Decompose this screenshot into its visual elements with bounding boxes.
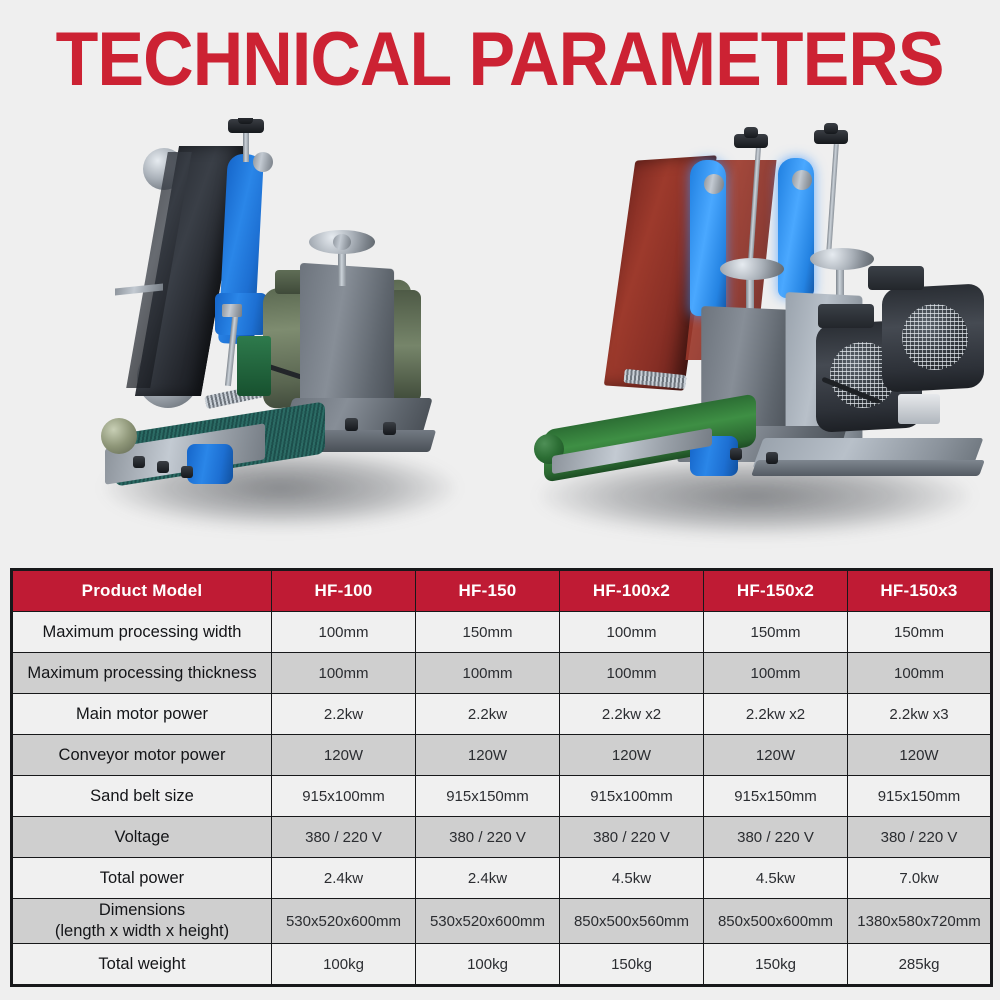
cell: 150mm <box>848 612 992 653</box>
page-header: TECHNICAL PARAMETERS <box>0 0 1000 120</box>
row-label: Sand belt size <box>12 776 272 817</box>
cell: 2.2kw x3 <box>848 694 992 735</box>
table-row: Dimensions (length x width x height) 530… <box>12 899 992 944</box>
knob-cap-2 <box>824 123 838 134</box>
bed-plate-edge <box>751 460 985 476</box>
row-label-line1: Dimensions <box>14 900 270 921</box>
table-row: Main motor power 2.2kw 2.2kw 2.2kw x2 2.… <box>12 694 992 735</box>
cell: 530x520x600mm <box>416 899 560 944</box>
row-label: Total power <box>12 858 272 899</box>
conveyor-bolt-3 <box>181 466 193 478</box>
cell: 2.2kw x2 <box>560 694 704 735</box>
column-header-product-model: Product Model <box>12 570 272 612</box>
cell: 100mm <box>560 653 704 694</box>
table-row: Maximum processing thickness 100mm 100mm… <box>12 653 992 694</box>
cell: 850x500x560mm <box>560 899 704 944</box>
cell: 4.5kw <box>704 858 848 899</box>
cell: 120W <box>704 735 848 776</box>
cell: 100kg <box>416 944 560 986</box>
row-label: Voltage <box>12 817 272 858</box>
cell: 530x520x600mm <box>272 899 416 944</box>
column-header-model-1: HF-100 <box>272 570 416 612</box>
tension-rod-2 <box>826 144 839 254</box>
base-bolt-3 <box>383 422 396 435</box>
cell: 100mm <box>848 653 992 694</box>
cell: 915x150mm <box>704 776 848 817</box>
product-photo-stage <box>0 118 1000 560</box>
cell: 850x500x600mm <box>704 899 848 944</box>
table-row: Sand belt size 915x100mm 915x150mm 915x1… <box>12 776 992 817</box>
column-header-model-5: HF-150x3 <box>848 570 992 612</box>
cell: 100mm <box>416 653 560 694</box>
machine-base-column <box>300 263 394 420</box>
technical-parameters-table: Product Model HF-100 HF-150 HF-100x2 HF-… <box>10 568 993 987</box>
conveyor-roller-right <box>187 444 233 484</box>
column-header-model-3: HF-100x2 <box>560 570 704 612</box>
cell: 120W <box>272 735 416 776</box>
cell: 120W <box>416 735 560 776</box>
motor-terminal-box-2 <box>868 266 924 290</box>
cell: 150mm <box>416 612 560 653</box>
cell: 2.2kw <box>272 694 416 735</box>
table-row: Voltage 380 / 220 V 380 / 220 V 380 / 22… <box>12 817 992 858</box>
row-label: Total weight <box>12 944 272 986</box>
table-header-row: Product Model HF-100 HF-150 HF-100x2 HF-… <box>12 570 992 612</box>
product-image-left <box>95 118 455 548</box>
cell: 915x150mm <box>416 776 560 817</box>
cell: 915x100mm <box>272 776 416 817</box>
conveyor-bolt-2 <box>766 452 778 464</box>
cell: 100mm <box>560 612 704 653</box>
control-switch-box <box>898 394 940 424</box>
handwheel-1 <box>720 258 784 280</box>
cell: 915x100mm <box>560 776 704 817</box>
table-row: Total weight 100kg 100kg 150kg 150kg 285… <box>12 944 992 986</box>
cell: 380 / 220 V <box>416 817 560 858</box>
cell: 915x150mm <box>848 776 992 817</box>
cell: 120W <box>848 735 992 776</box>
product-image-right <box>530 126 980 556</box>
cell: 1380x580x720mm <box>848 899 992 944</box>
page-title: TECHNICAL PARAMETERS <box>56 22 944 98</box>
row-label: Main motor power <box>12 694 272 735</box>
cell: 380 / 220 V <box>560 817 704 858</box>
handwheel-hub <box>333 234 351 250</box>
base-bolt-2 <box>345 418 358 431</box>
cell: 285kg <box>848 944 992 986</box>
row-label-line2: (length x width x height) <box>14 921 270 942</box>
cell: 7.0kw <box>848 858 992 899</box>
pivot-boss-2 <box>792 170 812 190</box>
cell: 2.2kw <box>416 694 560 735</box>
cell: 100mm <box>272 612 416 653</box>
conveyor-bolt-1 <box>133 456 145 468</box>
cell: 380 / 220 V <box>272 817 416 858</box>
knob-cap <box>238 118 253 124</box>
cell: 380 / 220 V <box>704 817 848 858</box>
conveyor-bolt-2 <box>157 461 169 473</box>
table-row: Maximum processing width 100mm 150mm 100… <box>12 612 992 653</box>
cell: 150mm <box>704 612 848 653</box>
motor-terminal-box-1 <box>818 304 874 328</box>
column-header-model-4: HF-150x2 <box>704 570 848 612</box>
table-row: Conveyor motor power 120W 120W 120W 120W… <box>12 735 992 776</box>
cell: 100mm <box>272 653 416 694</box>
pivot-boss-1 <box>704 174 724 194</box>
cell: 100mm <box>704 653 848 694</box>
cell: 100kg <box>272 944 416 986</box>
row-label: Conveyor motor power <box>12 735 272 776</box>
cell: 150kg <box>704 944 848 986</box>
conveyor-bolt-1 <box>730 448 742 460</box>
table-row: Total power 2.4kw 2.4kw 4.5kw 4.5kw 7.0k… <box>12 858 992 899</box>
cell: 2.4kw <box>272 858 416 899</box>
pivot-boss <box>253 152 273 172</box>
row-label: Maximum processing thickness <box>12 653 272 694</box>
sensor-block <box>237 336 271 396</box>
row-label: Dimensions (length x width x height) <box>12 899 272 944</box>
cell: 2.4kw <box>416 858 560 899</box>
conveyor-roller-left <box>101 418 137 454</box>
row-label: Maximum processing width <box>12 612 272 653</box>
cell: 2.2kw x2 <box>704 694 848 735</box>
cell: 380 / 220 V <box>848 817 992 858</box>
tension-rod <box>243 128 249 162</box>
screw-nut <box>222 304 242 317</box>
handwheel-2 <box>810 248 874 270</box>
column-header-model-2: HF-150 <box>416 570 560 612</box>
cell: 150kg <box>560 944 704 986</box>
cell: 120W <box>560 735 704 776</box>
motor-grille-2 <box>902 304 968 370</box>
cell: 4.5kw <box>560 858 704 899</box>
knob-cap-1 <box>744 127 758 138</box>
